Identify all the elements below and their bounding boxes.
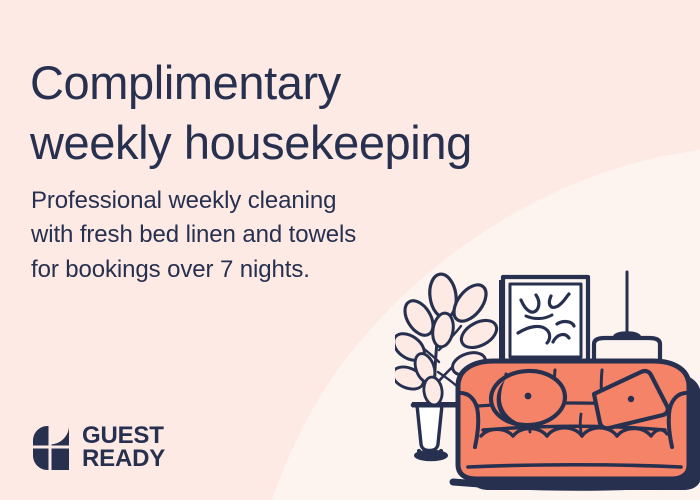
guestready-quadrant-mark (31, 424, 71, 472)
guestready-logo: GUEST READY (31, 424, 165, 472)
page-title: Complimentary weekly housekeeping (30, 53, 630, 172)
promo-card: Complimentary weekly housekeeping Profes… (0, 0, 700, 500)
logo-word-ready: READY (82, 448, 165, 471)
living-room-illustration (395, 258, 700, 500)
framed-picture (499, 277, 588, 367)
body-copy: Professional weekly cleaning with fresh … (31, 184, 451, 287)
sofa (453, 361, 700, 490)
logo-wordmark: GUEST READY (82, 425, 165, 471)
